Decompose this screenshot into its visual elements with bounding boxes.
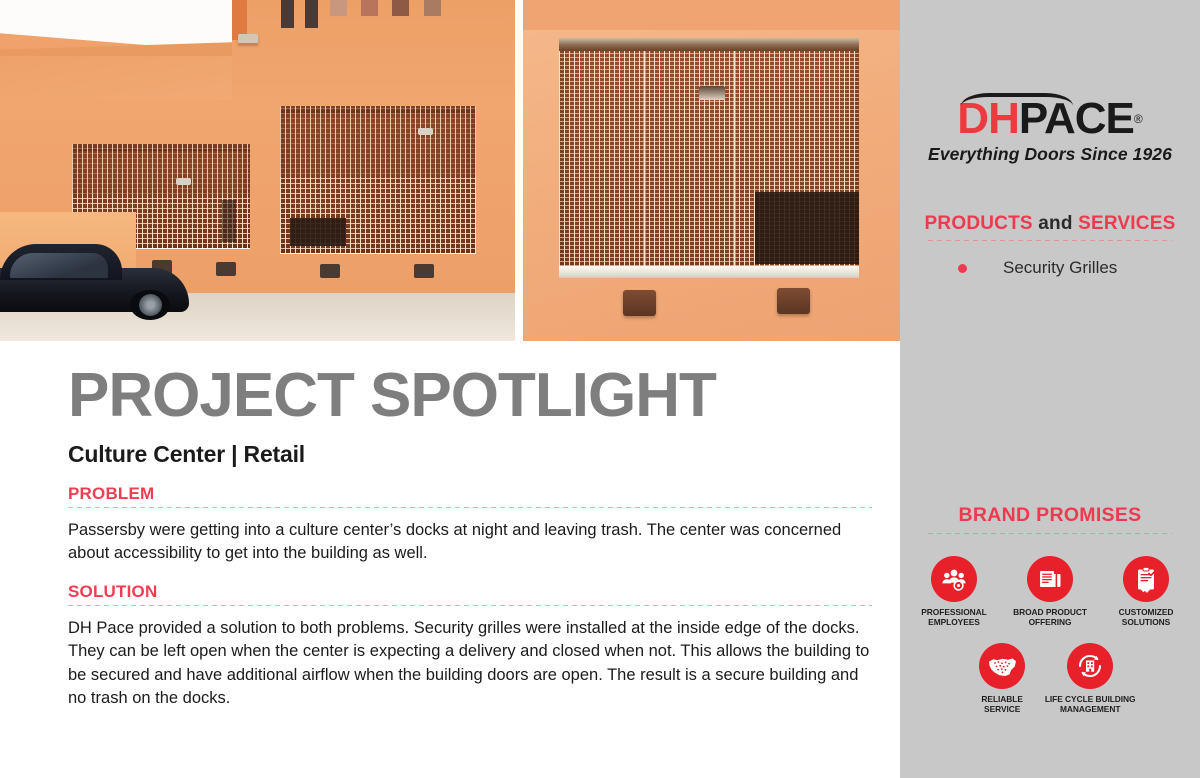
- logo-arc-icon: [961, 93, 1073, 119]
- problem-label: PROBLEM: [68, 484, 872, 504]
- problem-divider: [68, 507, 872, 508]
- brand-promise-professional-employees: PROFESSIONAL EMPLOYEES: [912, 556, 996, 628]
- usa-map-icon: [979, 643, 1025, 689]
- sidebar: DHPACE® Everything Doors Since 1926 PROD…: [900, 0, 1200, 778]
- brand-promise-broad-product-offering: BROAD PRODUCT OFFERING: [1008, 556, 1092, 628]
- photo-building-exterior: [0, 0, 515, 341]
- brand-promise-label: PROFESSIONAL EMPLOYEES: [912, 607, 996, 628]
- product-label: Security Grilles: [1003, 258, 1117, 278]
- products-services-divider: [928, 240, 1172, 241]
- solution-label: SOLUTION: [68, 582, 872, 602]
- brand-promises-divider: [928, 533, 1172, 534]
- products-services-list: Security Grilles: [900, 258, 1200, 278]
- logo-tagline: Everything Doors Since 1926: [900, 144, 1200, 165]
- brand-promise-label: BROAD PRODUCT OFFERING: [1008, 607, 1092, 628]
- clipboard-wrench-icon: [1123, 556, 1169, 602]
- project-spotlight-flyer: PROJECT SPOTLIGHT Culture Center | Retai…: [0, 0, 1200, 778]
- list-item: Security Grilles: [900, 258, 1200, 278]
- brand-promise-life-cycle-building-management: LIFE CYCLE BUILDING MANAGEMENT: [1042, 643, 1138, 715]
- photo-security-grille-closeup: [523, 0, 900, 341]
- brand-promise-reliable-service: RELIABLE SERVICE: [962, 643, 1042, 715]
- solution-divider: [68, 605, 872, 606]
- dh-pace-logo: DHPACE® Everything Doors Since 1926: [900, 96, 1200, 165]
- brand-promise-customized-solutions: CUSTOMIZED SOLUTIONS: [1104, 556, 1188, 628]
- problem-text: Passersby were getting into a culture ce…: [68, 519, 872, 566]
- building-cycle-icon: [1067, 643, 1113, 689]
- parked-car: [0, 244, 189, 320]
- bullet-icon: [958, 264, 967, 273]
- people-group-icon: [931, 556, 977, 602]
- and-word: and: [1033, 213, 1078, 234]
- registered-mark-icon: ®: [1134, 112, 1143, 126]
- products-services-heading: PRODUCTS and SERVICES: [900, 213, 1200, 235]
- brand-promise-label: LIFE CYCLE BUILDING MANAGEMENT: [1042, 694, 1138, 715]
- photo-band: [0, 0, 900, 341]
- brand-promise-label: CUSTOMIZED SOLUTIONS: [1104, 607, 1188, 628]
- brand-promise-label: RELIABLE SERVICE: [962, 694, 1042, 715]
- brand-promises-row-1: PROFESSIONAL EMPLOYEES: [912, 556, 1188, 628]
- product-catalog-icon: [1027, 556, 1073, 602]
- project-subtitle: Culture Center | Retail: [68, 441, 872, 468]
- solution-text: DH Pace provided a solution to both prob…: [68, 617, 872, 711]
- page-title: PROJECT SPOTLIGHT: [68, 365, 872, 427]
- brand-promises-row-2: RELIABLE SERVICE: [962, 643, 1138, 715]
- services-word: SERVICES: [1078, 213, 1175, 234]
- brand-promises-heading: BRAND PROMISES: [900, 504, 1200, 527]
- products-word: PRODUCTS: [925, 213, 1033, 234]
- main-content: PROJECT SPOTLIGHT Culture Center | Retai…: [0, 341, 900, 778]
